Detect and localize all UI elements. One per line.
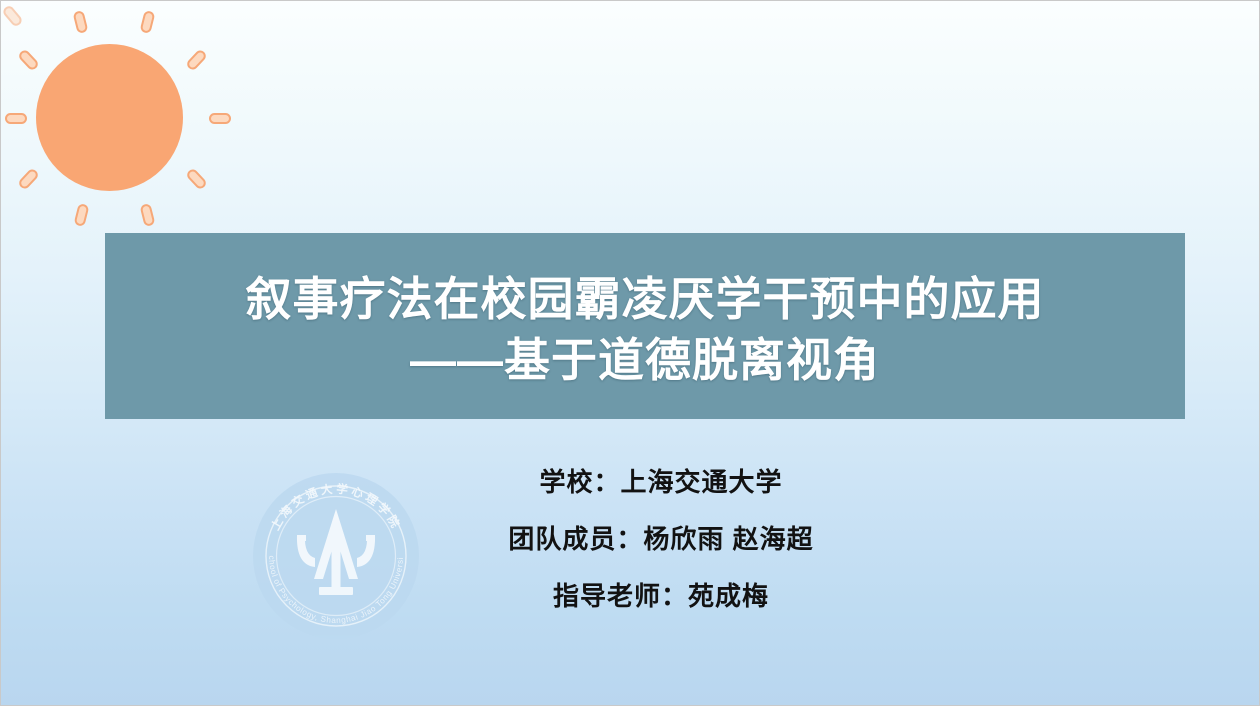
sun-ray <box>185 167 208 191</box>
page-subtitle: ——基于道德脱离视角 <box>410 331 880 390</box>
title-banner: 叙事疗法在校园霸凌厌学干预中的应用 ——基于道德脱离视角 <box>105 233 1185 419</box>
sun-ray <box>1 4 24 28</box>
info-line-members: 团队成员：杨欣雨 赵海超 <box>401 526 921 552</box>
page-title: 叙事疗法在校园霸凌厌学干预中的应用 <box>246 270 1045 329</box>
sun-disc <box>36 44 183 191</box>
presentation-title-slide: 叙事疗法在校园霸凌厌学干预中的应用 ——基于道德脱离视角 上海交通大学心 <box>0 0 1260 706</box>
sun-icon <box>1 1 271 241</box>
info-line-advisor: 指导老师：苑成梅 <box>401 583 921 609</box>
sun-ray <box>140 10 156 34</box>
sun-ray <box>73 10 89 34</box>
info-line-school: 学校：上海交通大学 <box>401 469 921 495</box>
sun-ray <box>140 203 156 227</box>
school-logo-watermark: 上海交通大学心理学院 School of Psychology, Shangha… <box>253 473 419 639</box>
sun-ray <box>185 48 208 72</box>
presenter-info-block: 学校：上海交通大学 团队成员：杨欣雨 赵海超 指导老师：苑成梅 <box>401 469 921 609</box>
sun-ray <box>5 113 27 124</box>
sun-ray <box>17 48 40 72</box>
sun-ray <box>209 113 231 124</box>
sun-ray <box>74 203 90 227</box>
sun-ray <box>17 167 40 191</box>
